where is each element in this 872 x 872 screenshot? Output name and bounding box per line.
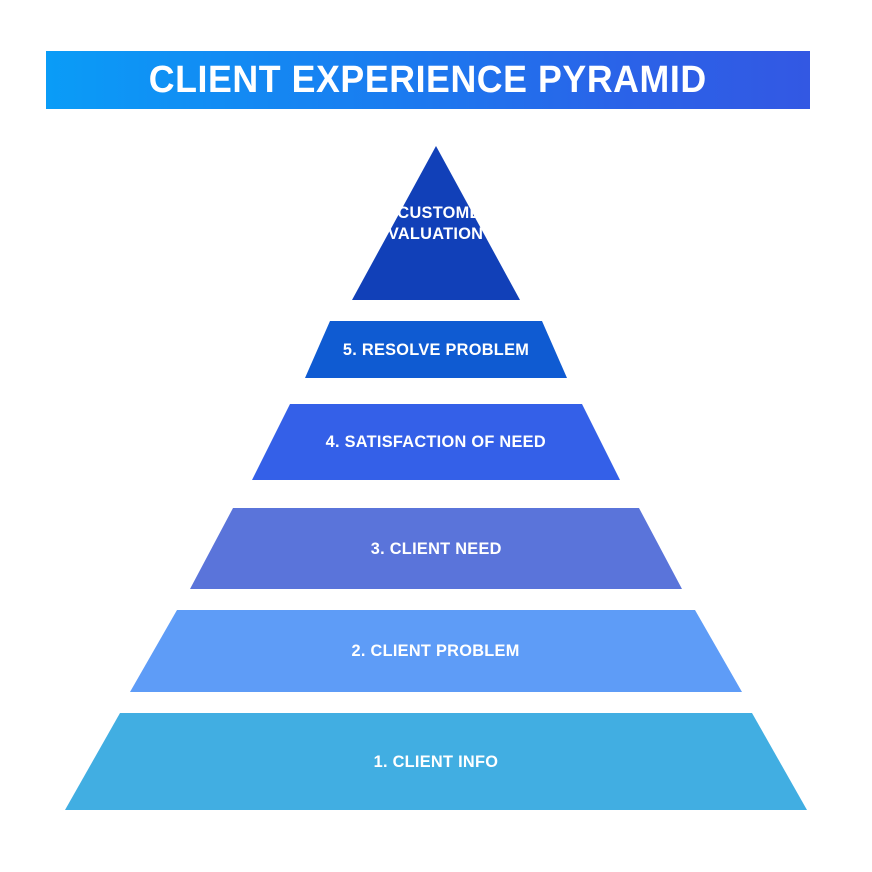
pyramid-level-3-shape (0, 508, 872, 589)
pyramid-level-6[interactable]: 6. CUSTOMER VALUATION (0, 146, 872, 300)
pyramid-level-1[interactable]: 1. CLIENT INFO (0, 713, 872, 810)
pyramid-level-5-shape (0, 321, 872, 378)
pyramid-infographic-page: CLIENT EXPERIENCE PYRAMID 6. CUSTOMER VA… (0, 0, 872, 872)
pyramid-level-2-shape (0, 610, 872, 692)
pyramid-diagram: 6. CUSTOMER VALUATION 5. RESOLVE PROBLEM… (0, 0, 872, 872)
pyramid-level-4[interactable]: 4. SATISFACTION OF NEED (0, 404, 872, 480)
pyramid-level-1-shape (0, 713, 872, 810)
pyramid-level-6-shape (0, 146, 872, 300)
pyramid-level-3[interactable]: 3. CLIENT NEED (0, 508, 872, 589)
pyramid-level-2[interactable]: 2. CLIENT PROBLEM (0, 610, 872, 692)
pyramid-level-4-shape (0, 404, 872, 480)
pyramid-level-5[interactable]: 5. RESOLVE PROBLEM (0, 321, 872, 378)
